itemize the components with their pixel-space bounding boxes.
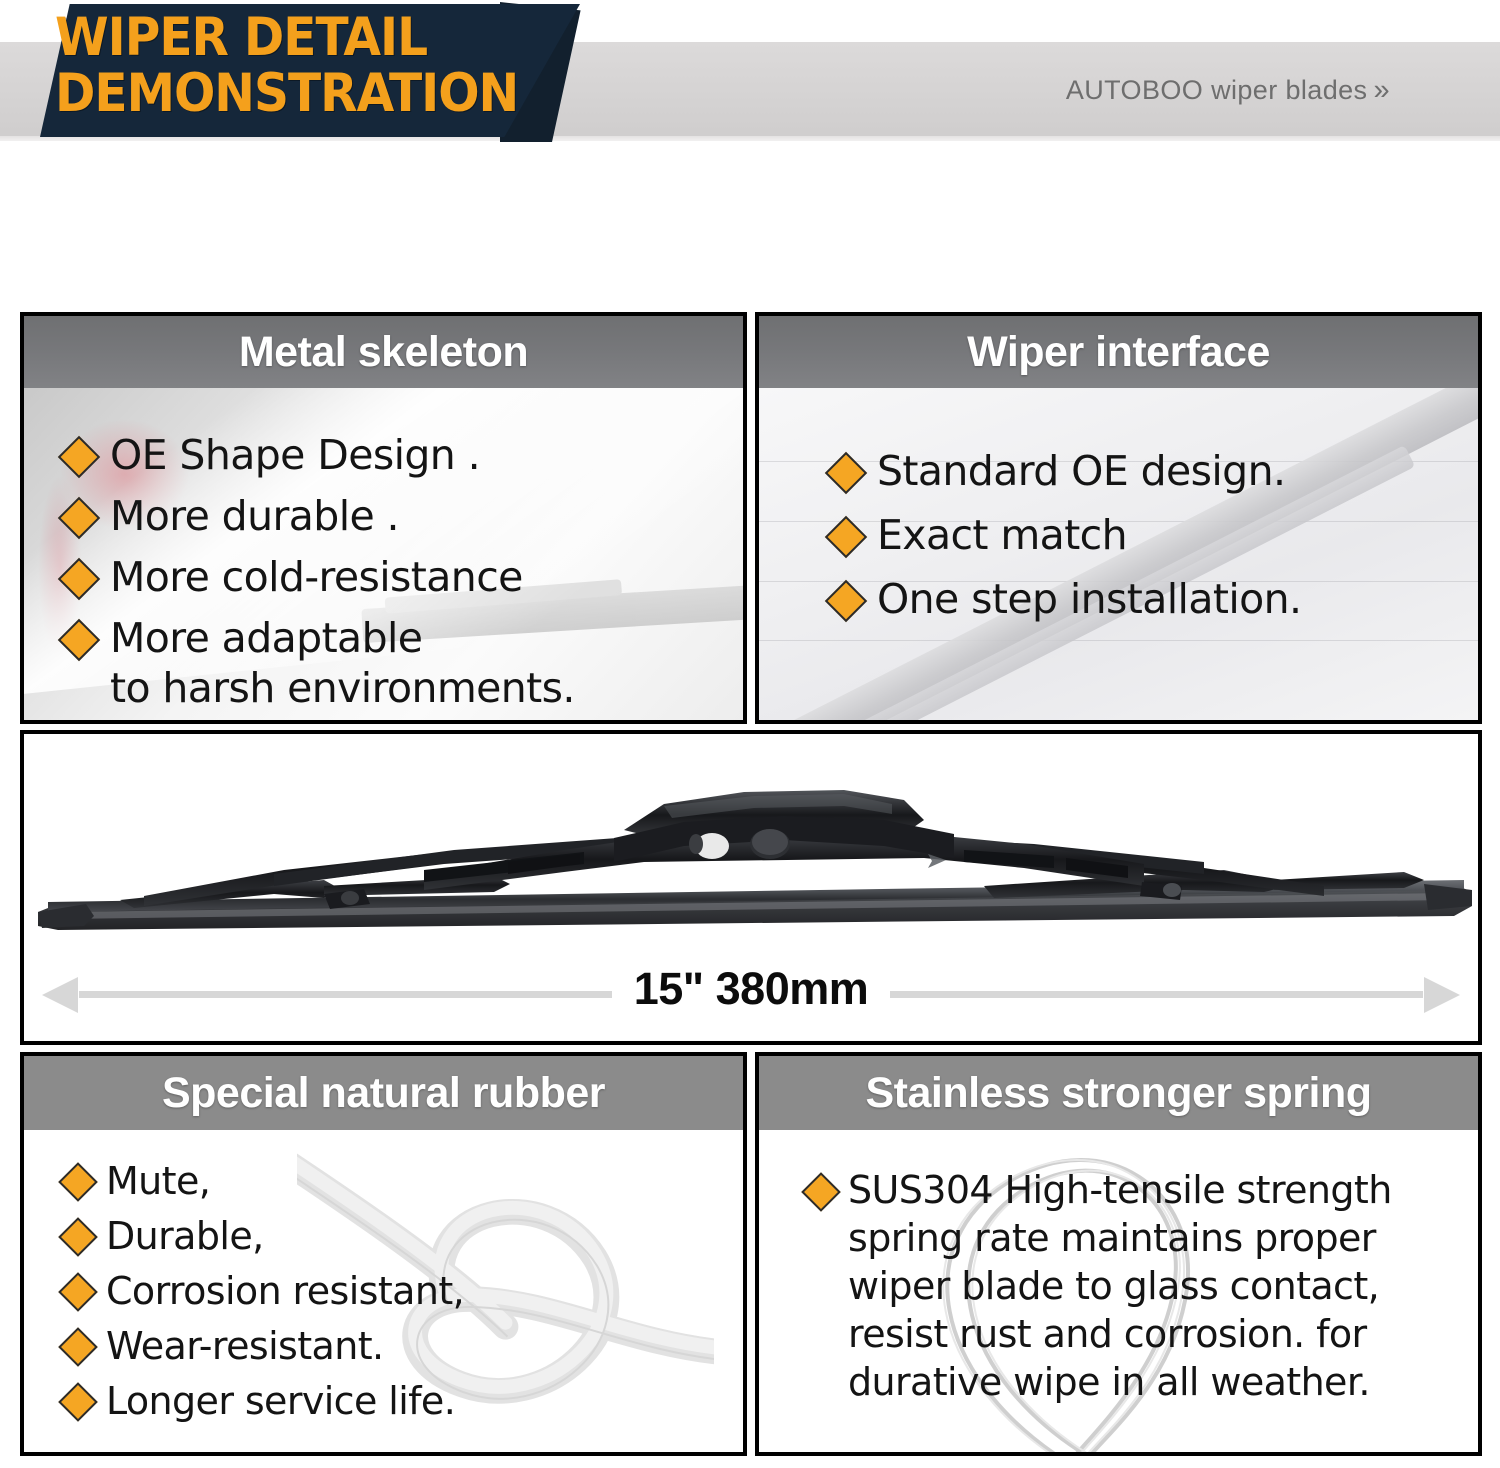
dimension-indicator: 15" 380mm bbox=[24, 949, 1478, 1045]
panel-header-stainless-stronger-spring: Stainless stronger spring bbox=[759, 1056, 1478, 1130]
panel-header-special-natural-rubber: Special natural rubber bbox=[24, 1056, 743, 1130]
panel-wiper-interface: Wiper interface Standard OE design. Exac… bbox=[755, 312, 1482, 724]
list-item: SUS304 High-tensile strength spring rate… bbox=[807, 1166, 1456, 1406]
list-item-label: More adaptable to harsh environments. bbox=[110, 613, 575, 713]
diamond-bullet-icon bbox=[58, 1382, 98, 1422]
list-item-label: Longer service life. bbox=[106, 1378, 455, 1424]
panel-body: 15" 380mm bbox=[24, 734, 1478, 1041]
diamond-bullet-icon bbox=[58, 1327, 98, 1367]
list-item: More adaptable to harsh environments. bbox=[64, 613, 743, 713]
panel-body: Standard OE design. Exact match One step… bbox=[759, 388, 1478, 720]
diamond-bullet-icon bbox=[58, 619, 100, 661]
panel-body: Mute, Durable, Corrosion resistant, Wear… bbox=[24, 1130, 743, 1452]
diamond-bullet-icon bbox=[58, 1217, 98, 1257]
list-item-label: Corrosion resistant, bbox=[106, 1268, 464, 1314]
product-photo-wiper-blade bbox=[24, 734, 1478, 949]
list-item-label-line2: to harsh environments. bbox=[110, 663, 575, 713]
panel-header-metal-skeleton: Metal skeleton bbox=[24, 316, 743, 388]
list-item: Longer service life. bbox=[64, 1378, 743, 1424]
brand-label: AUTOBOO wiper blades» bbox=[1066, 74, 1390, 107]
list-item: One step installation. bbox=[831, 574, 1478, 624]
panel-body: OE Shape Design . More durable . More co… bbox=[24, 388, 743, 720]
list-item: Durable, bbox=[64, 1213, 743, 1259]
banner-title-line1: WIPER DETAIL bbox=[55, 7, 427, 68]
feature-list: OE Shape Design . More durable . More co… bbox=[24, 388, 743, 713]
panel-product-dimension: 15" 380mm bbox=[20, 730, 1482, 1045]
list-item-label: Durable, bbox=[106, 1213, 264, 1259]
list-item-label: Mute, bbox=[106, 1158, 210, 1204]
banner-title-line2: DEMONSTRATION bbox=[55, 66, 565, 122]
panel-stainless-stronger-spring: Stainless stronger spring bbox=[755, 1052, 1482, 1456]
list-item-label: Standard OE design. bbox=[877, 446, 1285, 496]
feature-list: Mute, Durable, Corrosion resistant, Wear… bbox=[24, 1130, 743, 1424]
list-item: Wear-resistant. bbox=[64, 1323, 743, 1369]
panel-metal-skeleton: Metal skeleton OE Shape Design . More du… bbox=[20, 312, 747, 724]
diamond-bullet-icon bbox=[58, 1162, 98, 1202]
feature-list: SUS304 High-tensile strength spring rate… bbox=[759, 1130, 1478, 1406]
list-item-label: SUS304 High-tensile strength spring rate… bbox=[848, 1166, 1456, 1406]
diamond-bullet-icon bbox=[825, 516, 867, 558]
diamond-bullet-icon bbox=[58, 436, 100, 478]
list-item: Mute, bbox=[64, 1158, 743, 1204]
list-item-label: More durable . bbox=[110, 491, 399, 541]
list-item-label: Wear-resistant. bbox=[106, 1323, 384, 1369]
panel-title: Metal skeleton bbox=[239, 329, 528, 375]
diamond-bullet-icon bbox=[58, 558, 100, 600]
list-item: More durable . bbox=[64, 491, 743, 541]
diamond-bullet-icon bbox=[825, 580, 867, 622]
panel-title: Special natural rubber bbox=[162, 1070, 605, 1116]
diamond-bullet-icon bbox=[58, 1272, 98, 1312]
list-item-label-line1: More adaptable bbox=[110, 614, 422, 662]
dimension-label-wrap: 15" 380mm bbox=[24, 963, 1478, 1015]
wiper-blade-illustration bbox=[24, 734, 1478, 949]
panel-body: SUS304 High-tensile strength spring rate… bbox=[759, 1130, 1478, 1452]
panel-header-wiper-interface: Wiper interface bbox=[759, 316, 1478, 388]
panel-title: Wiper interface bbox=[967, 329, 1270, 375]
brand-text: AUTOBOO wiper blades bbox=[1066, 75, 1368, 105]
feature-list: Standard OE design. Exact match One step… bbox=[759, 388, 1478, 624]
double-chevron-right-icon: » bbox=[1373, 74, 1390, 106]
list-item: Corrosion resistant, bbox=[64, 1268, 743, 1314]
header-banner: WIPER DETAIL DEMONSTRATION bbox=[0, 0, 660, 145]
panel-special-natural-rubber: Special natural rubber bbox=[20, 1052, 747, 1456]
panel-title: Stainless stronger spring bbox=[865, 1070, 1371, 1116]
list-item: OE Shape Design . bbox=[64, 430, 743, 480]
page-header: WIPER DETAIL DEMONSTRATION AUTOBOO wiper… bbox=[0, 0, 1500, 160]
diamond-bullet-icon bbox=[825, 452, 867, 494]
list-item: Standard OE design. bbox=[831, 446, 1478, 496]
infographic-page: WIPER DETAIL DEMONSTRATION AUTOBOO wiper… bbox=[0, 0, 1500, 1468]
diamond-bullet-icon bbox=[58, 497, 100, 539]
list-item: Exact match bbox=[831, 510, 1478, 560]
list-item-label: More cold-resistance bbox=[110, 552, 523, 602]
list-item: More cold-resistance bbox=[64, 552, 743, 602]
dimension-label: 15" 380mm bbox=[612, 963, 891, 1015]
list-item-label: OE Shape Design . bbox=[110, 430, 480, 480]
list-item-label: Exact match bbox=[877, 510, 1127, 560]
diamond-bullet-icon bbox=[801, 1172, 841, 1212]
banner-title: WIPER DETAIL DEMONSTRATION bbox=[55, 10, 565, 122]
list-item-label: One step installation. bbox=[877, 574, 1301, 624]
